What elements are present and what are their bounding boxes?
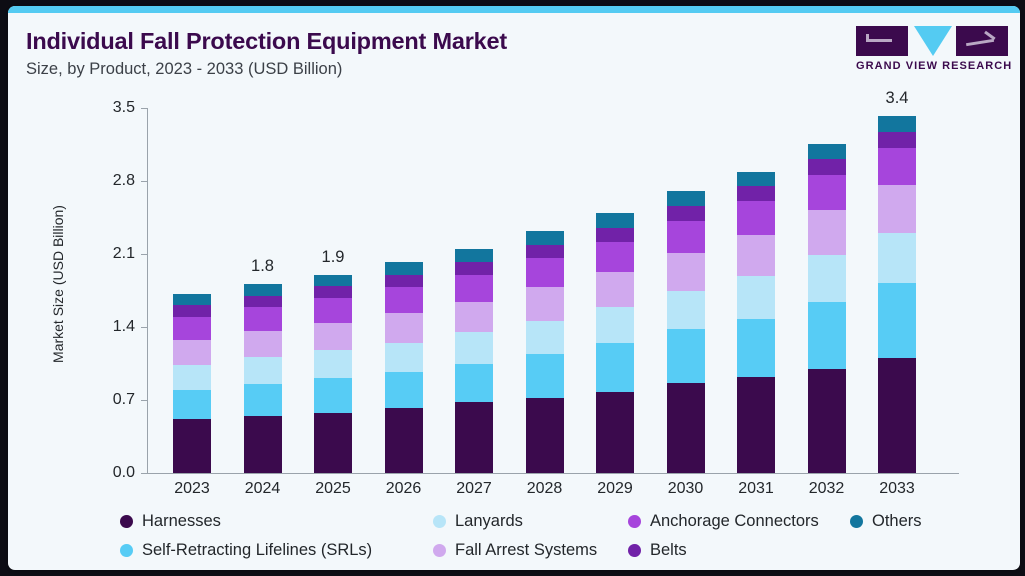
bar-segment[interactable]	[244, 284, 282, 295]
bar-segment[interactable]	[667, 221, 705, 253]
stacked-bar[interactable]	[596, 213, 634, 473]
legend-item[interactable]: Harnesses	[120, 512, 221, 531]
legend-label: Belts	[650, 541, 687, 560]
y-tick-mark	[141, 108, 147, 109]
legend-label: Anchorage Connectors	[650, 512, 819, 531]
bar-segment[interactable]	[737, 235, 775, 276]
bar-column[interactable]	[385, 108, 423, 473]
bar-value-label: 1.8	[233, 257, 293, 276]
bar-column[interactable]	[173, 108, 211, 473]
bar-segment[interactable]	[244, 307, 282, 331]
bar-segment[interactable]	[808, 302, 846, 369]
legend-color-swatch-icon	[433, 515, 446, 528]
report-card: Individual Fall Protection Equipment Mar…	[8, 6, 1020, 570]
y-tick-mark	[141, 327, 147, 328]
screenshot-frame: Individual Fall Protection Equipment Mar…	[0, 0, 1025, 576]
legend-color-swatch-icon	[850, 515, 863, 528]
x-tick-label: 2033	[867, 480, 927, 498]
bar-segment[interactable]	[808, 175, 846, 210]
bar-segment[interactable]	[244, 416, 282, 473]
bar-segment[interactable]	[526, 354, 564, 398]
x-tick-label: 2028	[515, 480, 575, 498]
bar-column[interactable]	[314, 108, 352, 473]
stacked-bar[interactable]	[173, 294, 211, 473]
x-tick-label: 2031	[726, 480, 786, 498]
y-tick-mark	[141, 254, 147, 255]
bar-segment[interactable]	[455, 332, 493, 363]
bar-segment[interactable]	[455, 364, 493, 403]
stacked-bar[interactable]	[385, 262, 423, 473]
bar-segment[interactable]	[173, 294, 211, 305]
bar-segment[interactable]	[526, 258, 564, 287]
bar-segment[interactable]	[667, 191, 705, 206]
y-tick-label: 0.7	[95, 391, 135, 409]
bar-segment[interactable]	[737, 201, 775, 235]
bar-segment[interactable]	[667, 291, 705, 330]
bar-segment[interactable]	[808, 210, 846, 255]
legend-color-swatch-icon	[628, 544, 641, 557]
legend-label: Fall Arrest Systems	[455, 541, 597, 560]
bar-segment[interactable]	[244, 296, 282, 307]
bar-segment[interactable]	[596, 307, 634, 342]
bar-segment[interactable]	[526, 398, 564, 473]
bar-segment[interactable]	[385, 287, 423, 313]
legend-color-swatch-icon	[433, 544, 446, 557]
x-tick-label: 2027	[444, 480, 504, 498]
stacked-bar[interactable]	[455, 249, 493, 473]
x-tick-label: 2030	[656, 480, 716, 498]
bar-segment[interactable]	[455, 249, 493, 263]
bar-segment[interactable]	[596, 228, 634, 242]
y-tick-label: 3.5	[95, 99, 135, 117]
bar-segment[interactable]	[808, 255, 846, 302]
x-axis-line	[147, 473, 959, 474]
bar-segment[interactable]	[173, 365, 211, 390]
bar-segment[interactable]	[596, 242, 634, 272]
bar-segment[interactable]	[526, 245, 564, 259]
bar-segment[interactable]	[878, 358, 916, 473]
bar-segment[interactable]	[596, 392, 634, 473]
bar-segment[interactable]	[808, 144, 846, 160]
bar-segment[interactable]	[878, 185, 916, 233]
bar-segment[interactable]	[385, 343, 423, 372]
bar-segment[interactable]	[173, 317, 211, 340]
bar-segment[interactable]	[596, 272, 634, 307]
x-tick-label: 2025	[303, 480, 363, 498]
bar-segment[interactable]	[808, 159, 846, 175]
bar-segment[interactable]	[737, 186, 775, 201]
bar-column[interactable]	[455, 108, 493, 473]
bar-column[interactable]	[808, 108, 846, 473]
y-tick-label: 1.4	[95, 318, 135, 336]
bar-segment[interactable]	[244, 331, 282, 357]
bar-segment[interactable]	[455, 302, 493, 332]
bar-segment[interactable]	[455, 402, 493, 473]
bar-segment[interactable]	[455, 275, 493, 302]
y-tick-mark	[141, 400, 147, 401]
bar-segment[interactable]	[596, 213, 634, 228]
legend-item[interactable]: Fall Arrest Systems	[433, 541, 597, 560]
bar-segment[interactable]	[878, 148, 916, 186]
stacked-bar[interactable]	[314, 275, 352, 473]
bar-segment[interactable]	[596, 343, 634, 392]
y-tick-label: 0.0	[95, 464, 135, 482]
bar-column[interactable]	[667, 108, 705, 473]
stacked-bar[interactable]	[878, 116, 916, 473]
y-axis-label: Market Size (USD Billion)	[50, 174, 66, 394]
x-tick-label: 2026	[374, 480, 434, 498]
bar-segment[interactable]	[314, 298, 352, 323]
bar-segment[interactable]	[385, 262, 423, 275]
bar-segment[interactable]	[385, 372, 423, 409]
bar-segment[interactable]	[737, 172, 775, 187]
legend-item[interactable]: Self-Retracting Lifelines (SRLs)	[120, 541, 372, 560]
legend-label: Others	[872, 512, 922, 531]
legend-color-swatch-icon	[628, 515, 641, 528]
legend-label: Lanyards	[455, 512, 523, 531]
stacked-bar[interactable]	[737, 172, 775, 473]
bar-segment[interactable]	[173, 340, 211, 365]
bar-segment[interactable]	[878, 116, 916, 132]
bar-segment[interactable]	[385, 313, 423, 342]
bar-segment[interactable]	[244, 357, 282, 384]
bar-segment[interactable]	[526, 321, 564, 354]
bar-segment[interactable]	[244, 384, 282, 415]
y-tick-mark	[141, 473, 147, 474]
bar-column[interactable]	[737, 108, 775, 473]
y-tick-mark	[141, 181, 147, 182]
bar-segment[interactable]	[385, 408, 423, 473]
bar-value-label: 3.4	[867, 89, 927, 108]
bar-segment[interactable]	[878, 233, 916, 283]
bar-value-label: 1.9	[303, 248, 363, 267]
bar-segment[interactable]	[314, 350, 352, 378]
x-tick-label: 2032	[797, 480, 857, 498]
bar-segment[interactable]	[314, 323, 352, 350]
bar-segment[interactable]	[526, 231, 564, 245]
x-tick-label: 2029	[585, 480, 645, 498]
bar-segment[interactable]	[808, 369, 846, 473]
bar-segment[interactable]	[667, 383, 705, 473]
bar-segment[interactable]	[878, 283, 916, 358]
y-tick-label: 2.8	[95, 172, 135, 190]
stacked-bar[interactable]	[667, 191, 705, 473]
bar-segment[interactable]	[314, 378, 352, 412]
bar-segment[interactable]	[737, 377, 775, 473]
legend-color-swatch-icon	[120, 515, 133, 528]
bar-segment[interactable]	[878, 132, 916, 148]
bar-segment[interactable]	[314, 275, 352, 286]
bar-column[interactable]	[878, 108, 916, 473]
stacked-bar-chart: Market Size (USD Billion) 0.00.71.42.12.…	[8, 6, 1020, 570]
legend-label: Self-Retracting Lifelines (SRLs)	[142, 541, 372, 560]
bar-segment[interactable]	[314, 413, 352, 473]
bar-segment[interactable]	[737, 319, 775, 377]
y-tick-label: 2.1	[95, 245, 135, 263]
bar-segment[interactable]	[526, 287, 564, 320]
bar-segment[interactable]	[667, 253, 705, 291]
y-axis-line	[147, 108, 148, 474]
legend-color-swatch-icon	[120, 544, 133, 557]
legend-label: Harnesses	[142, 512, 221, 531]
x-tick-label: 2023	[162, 480, 222, 498]
bar-segment[interactable]	[667, 329, 705, 383]
bar-segment[interactable]	[173, 305, 211, 316]
x-tick-label: 2024	[233, 480, 293, 498]
bar-segment[interactable]	[385, 275, 423, 288]
bar-segment[interactable]	[173, 390, 211, 419]
stacked-bar[interactable]	[244, 284, 282, 473]
bar-segment[interactable]	[173, 419, 211, 473]
stacked-bar[interactable]	[808, 144, 846, 474]
bar-segment[interactable]	[737, 276, 775, 319]
bar-column[interactable]	[526, 108, 564, 473]
bar-segment[interactable]	[314, 286, 352, 297]
legend-item[interactable]: Lanyards	[433, 512, 523, 531]
legend-item[interactable]: Belts	[628, 541, 687, 560]
stacked-bar[interactable]	[526, 231, 564, 473]
bar-segment[interactable]	[455, 262, 493, 275]
bar-column[interactable]	[596, 108, 634, 473]
bar-segment[interactable]	[667, 206, 705, 221]
legend-item[interactable]: Others	[850, 512, 922, 531]
bar-column[interactable]	[244, 108, 282, 473]
legend-item[interactable]: Anchorage Connectors	[628, 512, 819, 531]
